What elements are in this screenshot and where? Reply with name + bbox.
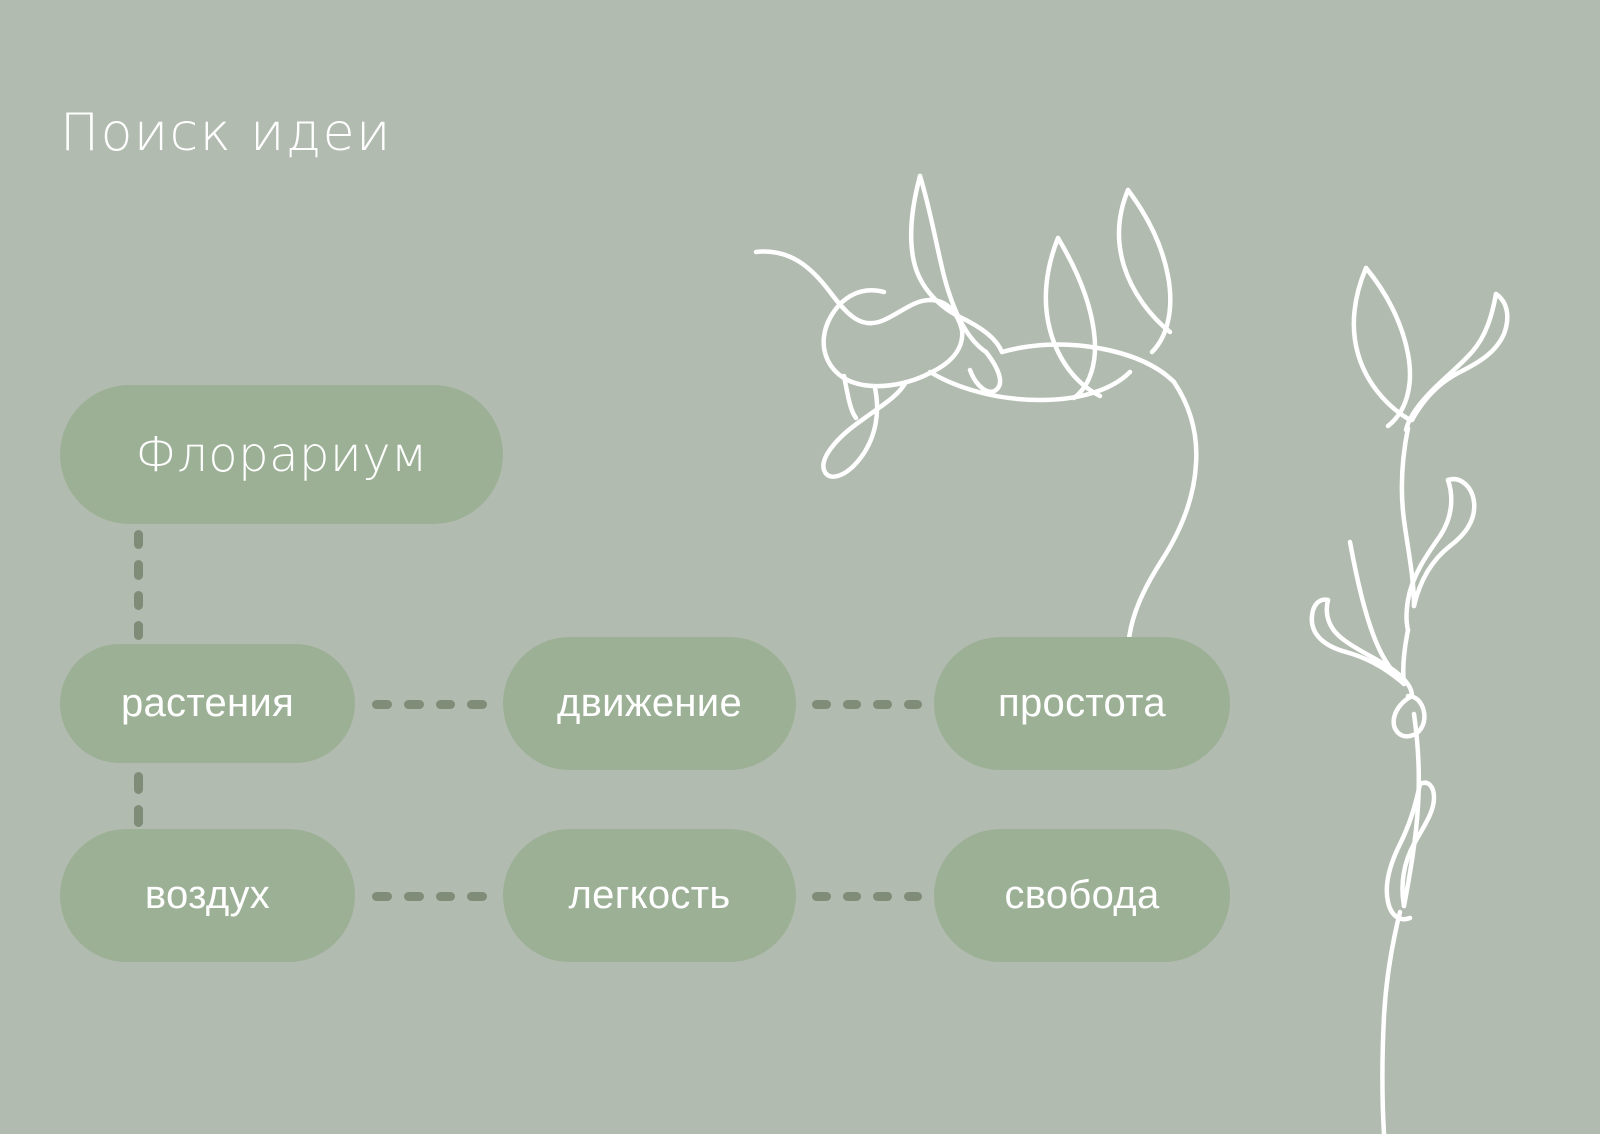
dash-segment bbox=[467, 700, 487, 709]
dash-segment bbox=[843, 700, 862, 709]
connector-rasteniya-dvizhenie bbox=[372, 684, 487, 724]
dash-segment bbox=[404, 892, 424, 901]
node-rasteniya-label: растения bbox=[121, 681, 294, 726]
plant-stem-line-art bbox=[1312, 268, 1507, 1134]
node-legkost[interactable]: легкость bbox=[503, 829, 796, 962]
dash-segment bbox=[436, 700, 456, 709]
node-legkost-label: легкость bbox=[569, 873, 731, 918]
dash-segment bbox=[436, 892, 456, 901]
node-dvizhenie[interactable]: движение bbox=[503, 637, 796, 770]
page-title: Поиск идеи bbox=[60, 103, 392, 163]
dash-segment bbox=[467, 892, 487, 901]
node-florarium-label: Флорариум bbox=[135, 427, 427, 483]
page-title-text: Поиск идеи bbox=[60, 103, 392, 163]
node-prostota[interactable]: простота bbox=[934, 637, 1230, 770]
node-florarium[interactable]: Флорариум bbox=[60, 385, 503, 524]
dash-segment bbox=[372, 892, 392, 901]
node-vozduh-label: воздух bbox=[145, 873, 270, 918]
connector-dvizhenie-prostota bbox=[812, 684, 922, 724]
dash-segment bbox=[134, 772, 143, 794]
node-rasteniya[interactable]: растения bbox=[60, 644, 355, 763]
plant-branch-line-art bbox=[0, 0, 1600, 1134]
dash-segment bbox=[873, 700, 892, 709]
node-dvizhenie-label: движение bbox=[557, 681, 742, 726]
dash-segment bbox=[134, 560, 143, 579]
connector-root-to-rasteniya bbox=[118, 530, 158, 640]
dash-segment bbox=[372, 700, 392, 709]
dash-segment bbox=[873, 892, 892, 901]
node-vozduh[interactable]: воздух bbox=[60, 829, 355, 962]
dash-segment bbox=[134, 805, 143, 827]
node-svoboda-label: свобода bbox=[1004, 873, 1159, 918]
connector-rasteniya-to-vozduh bbox=[118, 772, 158, 827]
dash-segment bbox=[134, 591, 143, 610]
dash-segment bbox=[904, 892, 923, 901]
node-prostota-label: простота bbox=[998, 681, 1166, 726]
dash-segment bbox=[812, 700, 831, 709]
dash-segment bbox=[134, 621, 143, 640]
dash-segment bbox=[812, 892, 831, 901]
dash-segment bbox=[134, 530, 143, 549]
branch-left-group bbox=[756, 176, 1196, 648]
connector-legkost-svoboda bbox=[812, 876, 922, 916]
connector-vozduh-legkost bbox=[372, 876, 487, 916]
dash-segment bbox=[843, 892, 862, 901]
dash-segment bbox=[904, 700, 923, 709]
node-svoboda[interactable]: свобода bbox=[934, 829, 1230, 962]
dash-segment bbox=[404, 700, 424, 709]
slide-canvas: Поиск идеи Флорариум растения движение п… bbox=[0, 0, 1600, 1134]
